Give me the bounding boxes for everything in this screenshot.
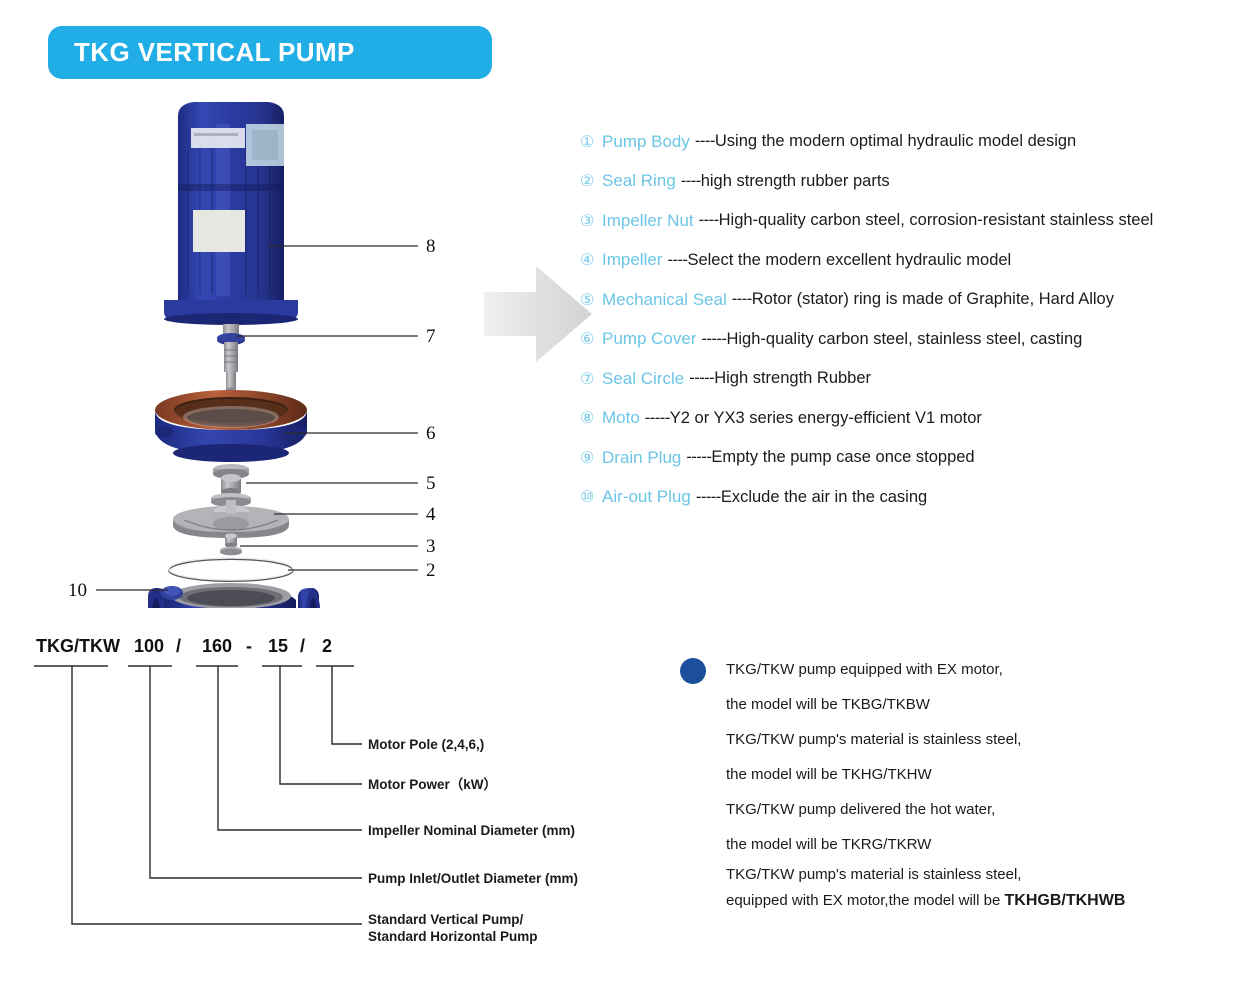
legend-number: ③ [580, 211, 602, 231]
part-air-out-plug [161, 586, 183, 600]
callout-3: 3 [426, 536, 436, 557]
legend-part-name: Drain Plug [602, 448, 681, 468]
legend-item: ⑦ Seal Circle ----- High strength Rubber [580, 359, 1230, 399]
flow-arrow [484, 262, 594, 366]
legend-item: ⑩ Air-out Plug ----- Exclude the air in … [580, 478, 1230, 518]
legend-dash: ----- [701, 330, 726, 349]
legend-part-name: Pump Body [602, 132, 690, 152]
code-token-pole: 2 [322, 636, 332, 656]
callout-6: 6 [426, 423, 436, 444]
legend-number: ① [580, 132, 602, 152]
legend-dash: ----- [645, 409, 670, 428]
legend-description: high strength rubber parts [701, 172, 890, 191]
callout-10: 10 [68, 580, 87, 601]
code-token-power: 15 [268, 636, 288, 656]
legend-description: High-quality carbon steel, stainless ste… [726, 330, 1082, 349]
legend-description: Rotor (stator) ring is made of Graphite,… [752, 290, 1114, 309]
code-token-impeller: 160 [202, 636, 232, 656]
legend-part-name: Seal Ring [602, 171, 676, 191]
legend-item: ⑨ Drain Plug ----- Empty the pump case o… [580, 438, 1230, 478]
code-separator-2: - [246, 636, 252, 656]
legend-part-name: Pump Cover [602, 329, 696, 349]
legend-number: ⑨ [580, 448, 602, 468]
legend-description: Empty the pump case once stopped [711, 448, 974, 467]
legend-number: ⑦ [580, 369, 602, 389]
part-motor [164, 102, 298, 325]
variant-note-line: TKG/TKW pump equipped with EX motor, [726, 652, 1200, 687]
legend-dash: ----- [689, 369, 714, 388]
label-inlet-outlet: Pump Inlet/Outlet Diameter (mm) [368, 871, 578, 886]
legend-dash: ----- [686, 448, 711, 467]
legend-description: Using the modern optimal hydraulic model… [715, 132, 1076, 151]
legend-number: ④ [580, 250, 602, 270]
variant-note-line-final: equipped with EX motor,the model will be… [726, 888, 1200, 914]
legend-item: ④ Impeller ---- Select the modern excell… [580, 241, 1230, 281]
callout-5: 5 [426, 473, 436, 494]
code-token-inlet: 100 [134, 636, 164, 656]
label-motor-pole: Motor Pole (2,4,6,) [368, 737, 484, 752]
page-title-banner: TKG VERTICAL PUMP [48, 26, 492, 79]
label-standard-horizontal: Standard Horizontal Pump [368, 929, 538, 944]
legend-number: ⑩ [580, 487, 602, 507]
part-pump-cover [155, 390, 307, 462]
part-impeller [173, 500, 289, 538]
legend-dash: ---- [695, 132, 715, 151]
legend-item: ⑥ Pump Cover ----- High-quality carbon s… [580, 320, 1230, 360]
variant-note-line: TKG/TKW pump's material is stainless ste… [726, 862, 1200, 888]
variant-note-line: the model will be TKRG/TKRW [726, 827, 1200, 862]
legend-part-name: Mechanical Seal [602, 290, 727, 310]
legend-description: Y2 or YX3 series energy-efficient V1 mot… [670, 409, 982, 428]
legend-dash: ----- [696, 488, 721, 507]
legend-dash: ---- [699, 211, 719, 230]
code-token-series: TKG/TKW [36, 636, 120, 656]
model-code-breakdown: TKG/TKW 100 / 160 - 15 / 2 Motor Pole (2… [24, 628, 624, 958]
legend-description: Exclude the air in the casing [721, 488, 927, 507]
legend-dash: ---- [667, 251, 687, 270]
legend-part-name: Moto [602, 408, 640, 428]
variant-note-line: the model will be TKHG/TKHW [726, 757, 1200, 792]
part-pump-body [147, 583, 321, 608]
variant-note-line: TKG/TKW pump's material is stainless ste… [726, 722, 1200, 757]
callout-2: 2 [426, 560, 436, 581]
legend-description: Select the modern excellent hydraulic mo… [687, 251, 1011, 270]
legend-item: ① Pump Body ---- Using the modern optima… [580, 122, 1230, 162]
exploded-pump-figure: 8 7 6 5 4 3 2 1 10 9 [60, 88, 490, 608]
code-separator-3: / [300, 636, 305, 656]
variant-note-line: the model will be TKBG/TKBW [726, 687, 1200, 722]
legend-number: ⑧ [580, 408, 602, 428]
part-seal-ring [169, 558, 293, 581]
legend-dash: ---- [732, 290, 752, 309]
legend-item: ③ Impeller Nut ---- High-quality carbon … [580, 201, 1230, 241]
legend-number: ⑥ [580, 329, 602, 349]
legend-item: ② Seal Ring ---- high strength rubber pa… [580, 162, 1230, 202]
legend-item: ⑧ Moto ----- Y2 or YX3 series energy-eff… [580, 399, 1230, 439]
legend-number: ⑤ [580, 290, 602, 310]
legend-description: High-quality carbon steel, corrosion-res… [719, 211, 1154, 230]
bullet-dot-icon [680, 658, 706, 684]
callout-8: 8 [426, 236, 436, 257]
callout-7: 7 [426, 326, 436, 347]
legend-item: ⑤ Mechanical Seal ---- Rotor (stator) ri… [580, 280, 1230, 320]
label-impeller-dia: Impeller Nominal Diameter (mm) [368, 823, 575, 838]
variant-note-prefix: equipped with EX motor,the model will be [726, 892, 1005, 909]
page-title: TKG VERTICAL PUMP [74, 37, 355, 68]
callout-4: 4 [426, 504, 436, 525]
legend-part-name: Air-out Plug [602, 487, 691, 507]
variant-note-model: TKHGB/TKHWB [1005, 892, 1126, 909]
label-standard-vertical: Standard Vertical Pump/ [368, 912, 524, 927]
variant-note-line: TKG/TKW pump delivered the hot water, [726, 792, 1200, 827]
code-separator-1: / [176, 636, 181, 656]
legend-part-name: Seal Circle [602, 369, 684, 389]
legend-description: High strength Rubber [714, 369, 871, 388]
label-motor-power: Motor Power（kW） [368, 777, 497, 792]
legend-dash: ---- [681, 172, 701, 191]
legend-part-name: Impeller [602, 250, 662, 270]
parts-legend: ① Pump Body ---- Using the modern optima… [580, 122, 1230, 517]
part-seal-circle [217, 324, 245, 393]
variant-notes: TKG/TKW pump equipped with EX motor, the… [680, 652, 1200, 914]
legend-number: ② [580, 171, 602, 191]
legend-part-name: Impeller Nut [602, 211, 694, 231]
